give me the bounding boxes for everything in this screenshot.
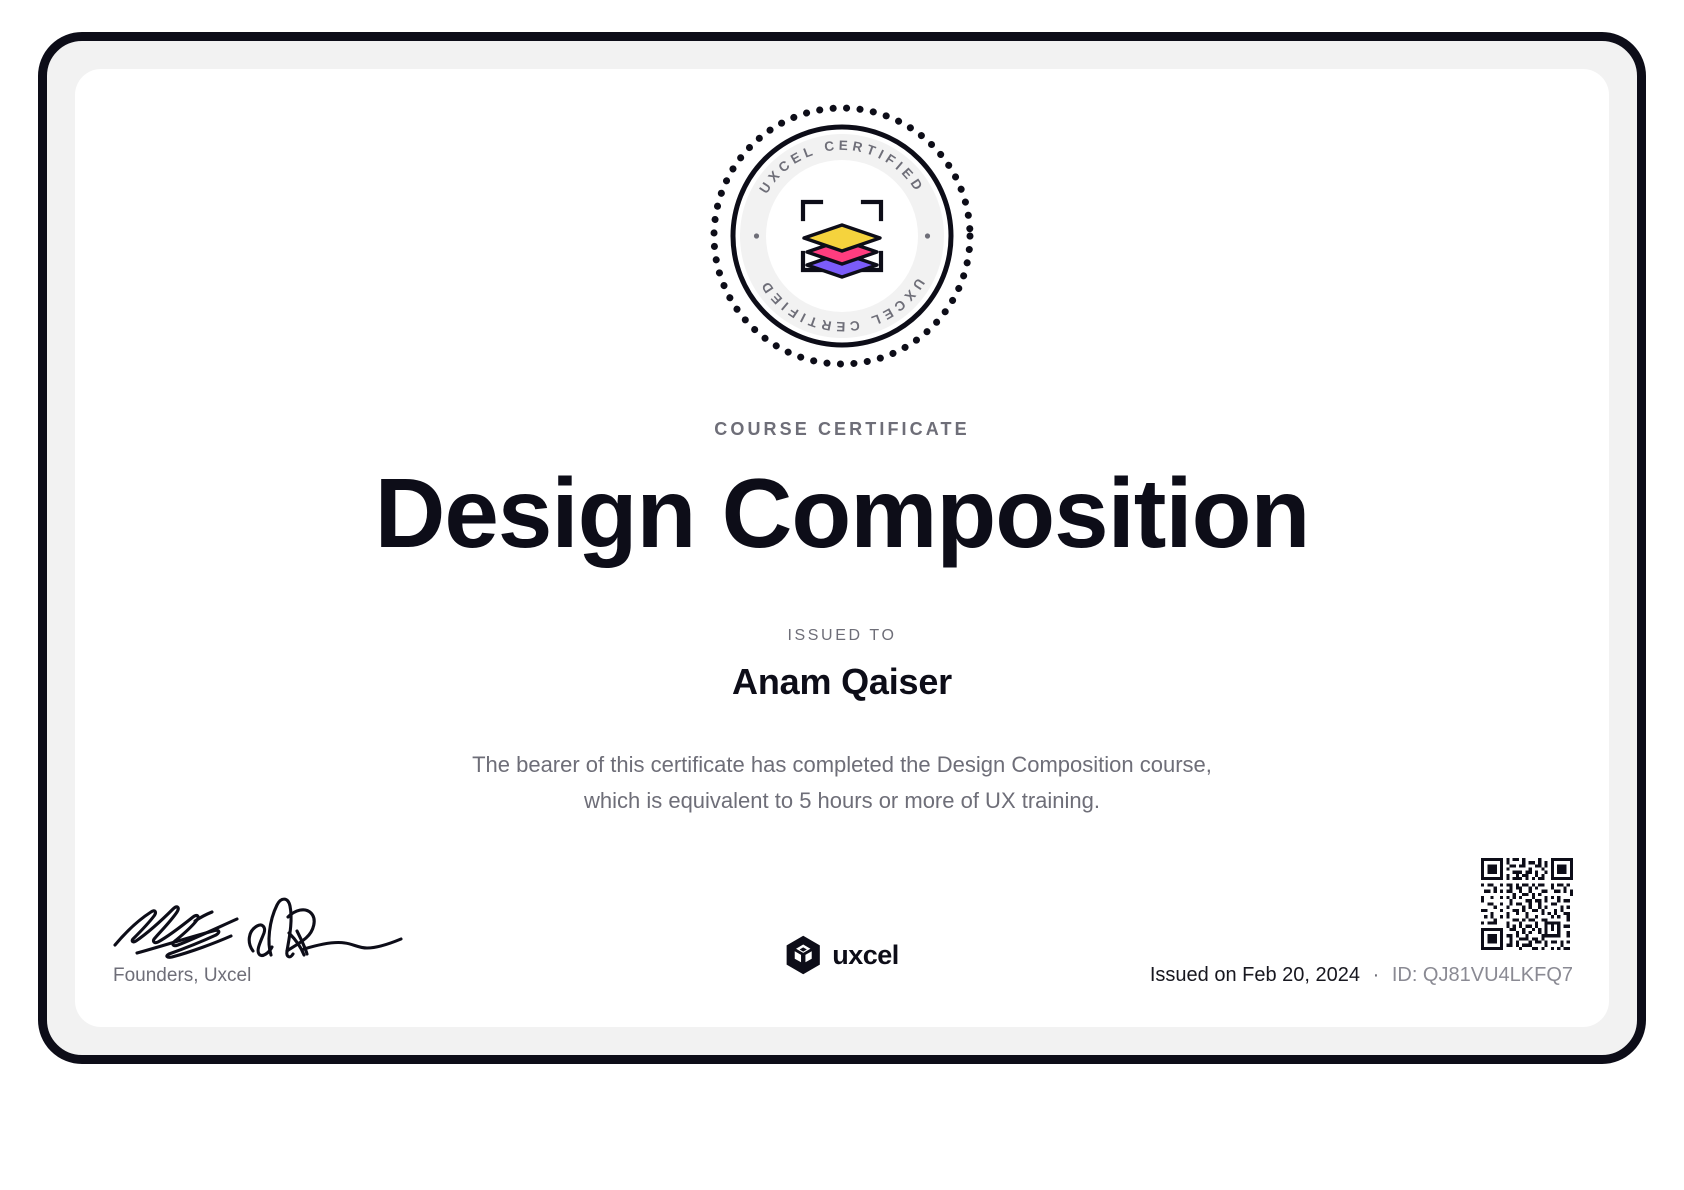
brand-wordmark: uxcel	[832, 940, 899, 971]
signature-block: Founders, Uxcel	[111, 881, 411, 987]
seal-bullet-right	[925, 233, 930, 238]
certificate-meta-block: Issued on Feb 20, 2024 · ID: QJ81VU4LKFQ…	[1150, 858, 1573, 987]
verification-qr-code[interactable]	[1481, 858, 1573, 950]
meta-separator: ·	[1366, 964, 1387, 986]
founder-signatures	[111, 881, 411, 961]
recipient-name: Anam Qaiser	[75, 661, 1609, 703]
certificate-frame: UXCEL CERTIFIED UXCEL CERTIFIED	[38, 32, 1646, 1064]
uxcel-hexagon-icon	[785, 935, 821, 975]
description-line-1: The bearer of this certificate has compl…	[472, 752, 1212, 777]
course-title: Design Composition	[75, 461, 1609, 567]
signature-role-label: Founders, Uxcel	[111, 965, 411, 987]
certificate-id: ID: QJ81VU4LKFQ7	[1392, 964, 1573, 986]
certificate-meta-line: Issued on Feb 20, 2024 · ID: QJ81VU4LKFQ…	[1150, 964, 1573, 987]
seal-bullet-left	[754, 233, 759, 238]
certificate-description: The bearer of this certificate has compl…	[412, 747, 1272, 818]
certificate-eyebrow: COURSE CERTIFICATE	[75, 419, 1609, 440]
certificate-card: UXCEL CERTIFIED UXCEL CERTIFIED	[75, 69, 1609, 1027]
issued-on-date: Issued on Feb 20, 2024	[1150, 964, 1360, 986]
uxcel-brand-logo: uxcel	[785, 935, 899, 975]
issued-to-label: ISSUED TO	[75, 627, 1609, 645]
layers-icon	[804, 225, 880, 277]
uxcel-certified-seal: UXCEL CERTIFIED UXCEL CERTIFIED	[707, 101, 977, 371]
description-line-2: which is equivalent to 5 hours or more o…	[584, 788, 1100, 813]
